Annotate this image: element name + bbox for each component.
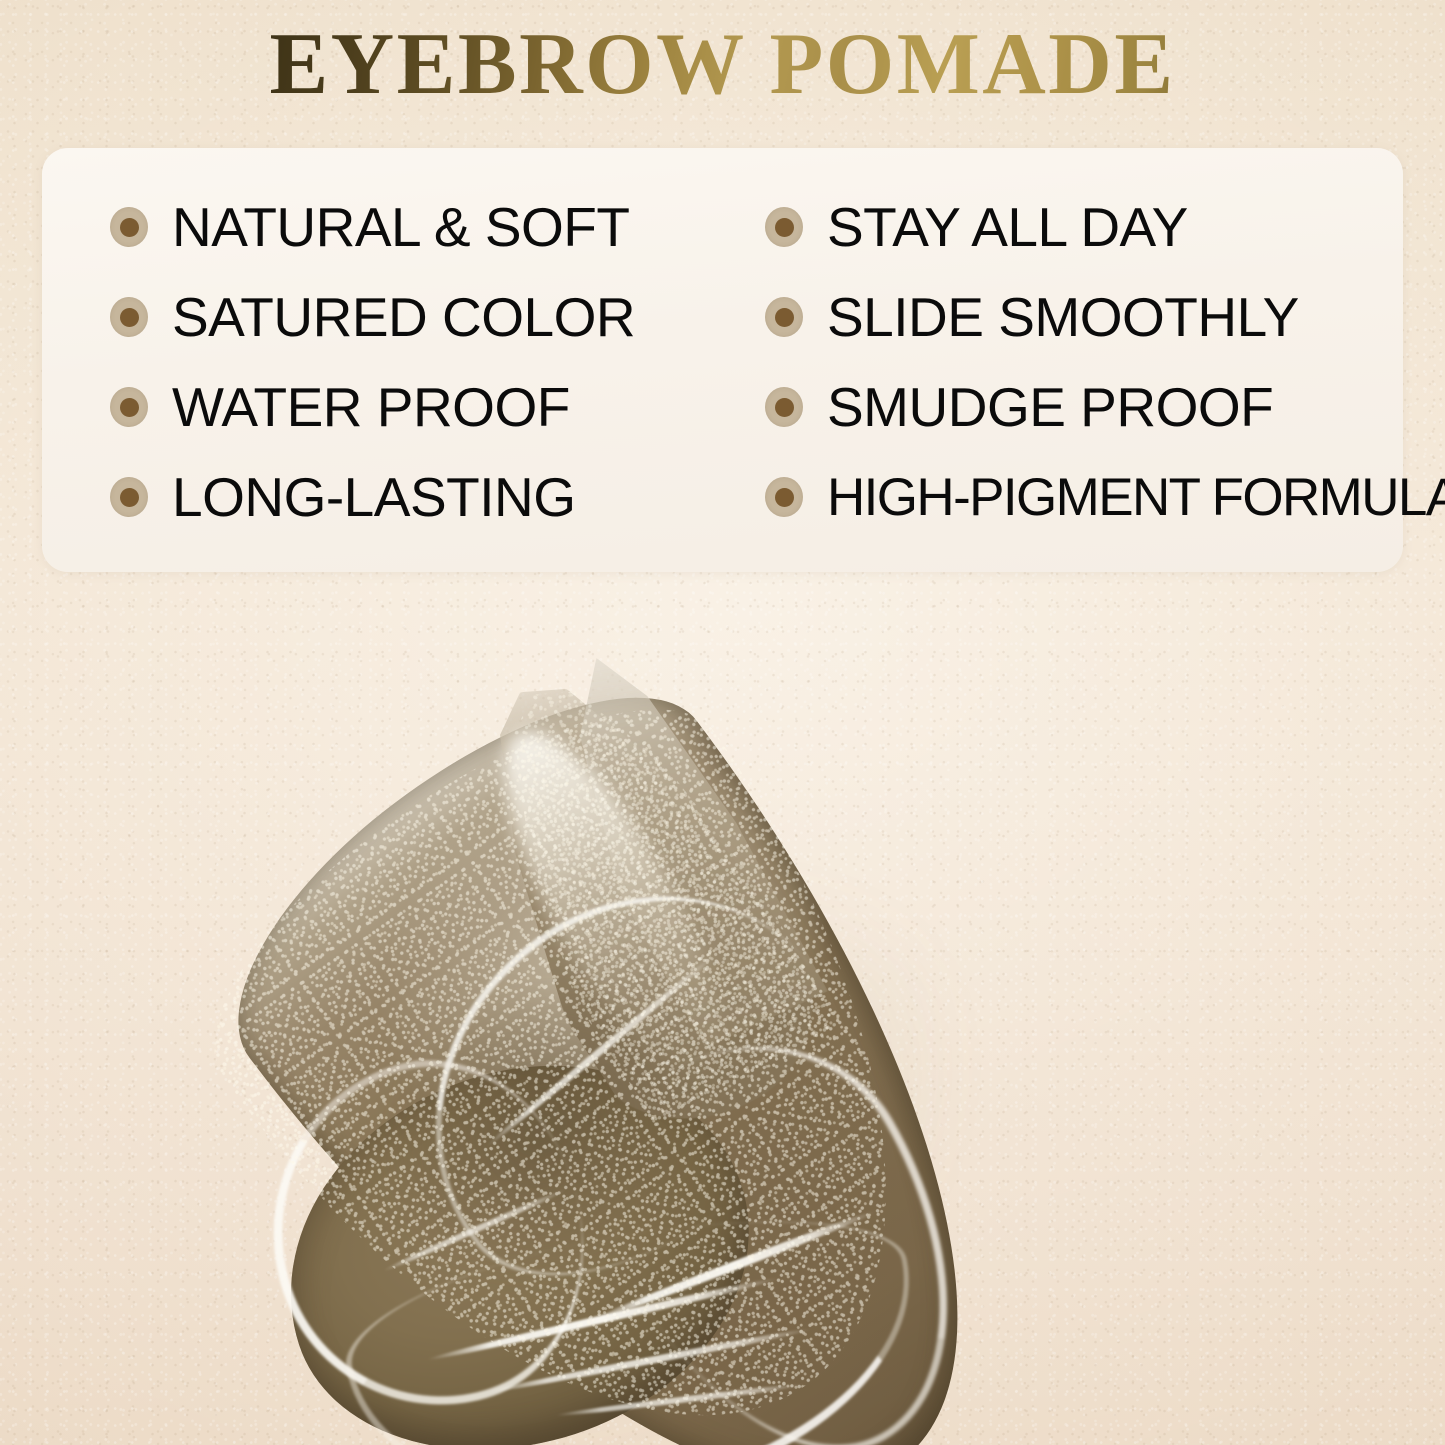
feature-label: SATURED COLOR — [172, 290, 635, 345]
feature-grid: NATURAL & SOFT STAY ALL DAY SATURED COLO… — [110, 182, 1385, 542]
pomade-swatch — [255, 615, 1215, 1425]
feature-label: NATURAL & SOFT — [172, 200, 630, 255]
bullet-dot-icon — [110, 297, 148, 337]
bullet-dot-icon — [765, 477, 803, 517]
feature-label: LONG-LASTING — [172, 470, 576, 525]
bullet-dot-icon — [110, 207, 148, 247]
feature-item-smudge-proof: SMUDGE PROOF — [765, 362, 1445, 452]
feature-item-stay-all-day: STAY ALL DAY — [765, 182, 1445, 272]
product-feature-image: EYEBROW POMADE NATURAL & SOFT STAY ALL D… — [0, 0, 1445, 1445]
feature-item-satured-color: SATURED COLOR — [110, 272, 765, 362]
bullet-dot-icon — [110, 387, 148, 427]
bullet-dot-icon — [765, 297, 803, 337]
feature-item-high-pigment-formula: HIGH-PIGMENT FORMULA — [765, 452, 1445, 542]
feature-label: SLIDE SMOOTHLY — [827, 290, 1299, 345]
feature-item-natural-soft: NATURAL & SOFT — [110, 182, 765, 272]
feature-label: STAY ALL DAY — [827, 200, 1188, 255]
feature-label: HIGH-PIGMENT FORMULA — [827, 471, 1445, 524]
feature-list-card: NATURAL & SOFT STAY ALL DAY SATURED COLO… — [42, 148, 1403, 572]
bullet-dot-icon — [765, 207, 803, 247]
bullet-dot-icon — [765, 387, 803, 427]
product-swatch-area — [0, 560, 1445, 1445]
feature-item-long-lasting: LONG-LASTING — [110, 452, 765, 542]
feature-item-water-proof: WATER PROOF — [110, 362, 765, 452]
feature-label: WATER PROOF — [172, 380, 570, 435]
feature-item-slide-smoothly: SLIDE SMOOTHLY — [765, 272, 1445, 362]
feature-label: SMUDGE PROOF — [827, 380, 1273, 435]
bullet-dot-icon — [110, 477, 148, 517]
